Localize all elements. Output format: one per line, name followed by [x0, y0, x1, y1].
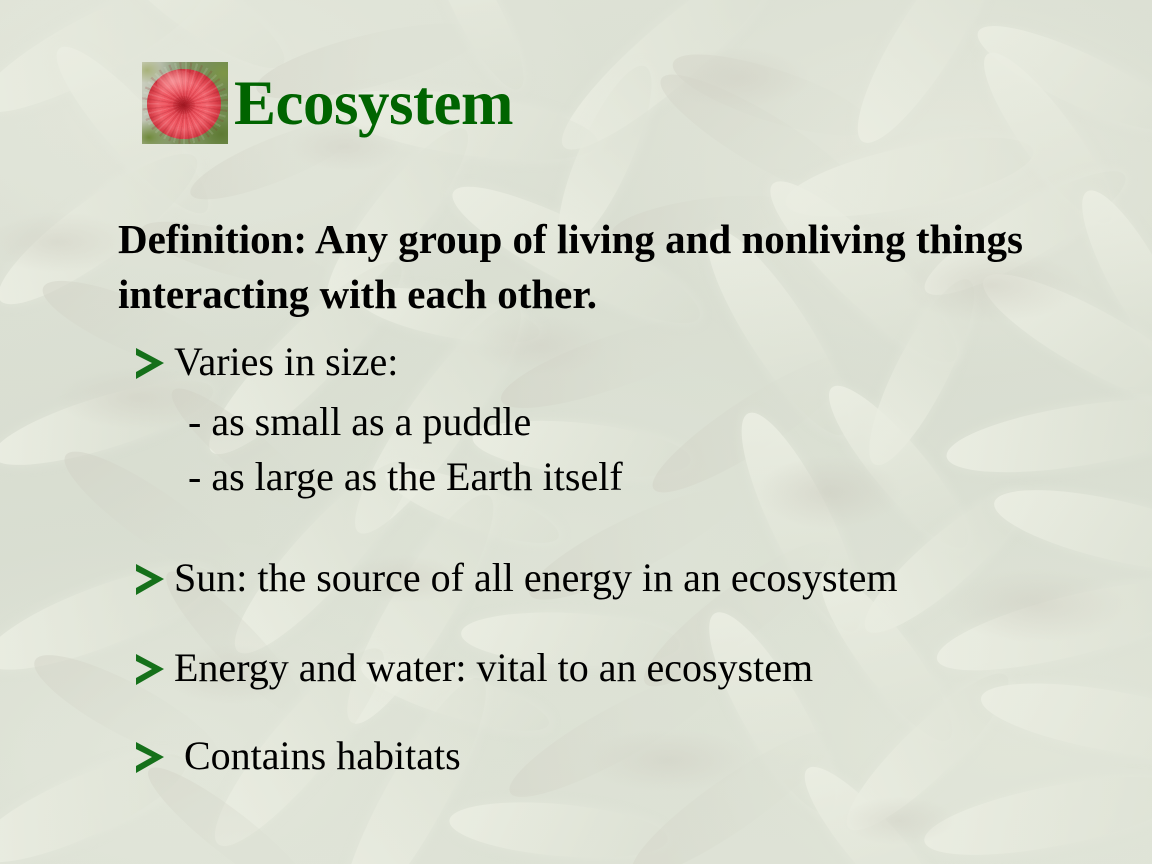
- chevron-right-icon: [130, 342, 174, 386]
- list-item: Sun: the source of all energy in an ecos…: [130, 556, 1110, 602]
- sub-list-item: - as small as a puddle: [188, 394, 1110, 449]
- page-title: Ecosystem: [234, 72, 513, 135]
- bullet-label: Varies in size:: [174, 340, 398, 385]
- bullet-label: Sun: the source of all energy in an ecos…: [174, 556, 898, 601]
- definition-text: Definition: Any group of living and nonl…: [118, 212, 1073, 321]
- bullet-list: Varies in size: - as small as a puddle -…: [130, 340, 1110, 780]
- slide-title-row: Ecosystem: [142, 62, 513, 144]
- chevron-right-icon: [130, 736, 174, 780]
- list-item: Contains habitats: [130, 734, 1110, 780]
- bullet-label: Contains habitats: [184, 734, 461, 779]
- bullet-row: Varies in size:: [130, 340, 1110, 386]
- list-item: Energy and water: vital to an ecosystem: [130, 646, 1110, 692]
- presentation-slide: Ecosystem Definition: Any group of livin…: [0, 0, 1152, 864]
- list-item: Varies in size: - as small as a puddle -…: [130, 340, 1110, 504]
- bullet-row: Contains habitats: [130, 734, 1110, 780]
- chevron-right-icon: [130, 558, 174, 602]
- carnation-flower-icon: [142, 62, 228, 144]
- sub-list-item: - as large as the Earth itself: [188, 449, 1110, 504]
- bullet-label: Energy and water: vital to an ecosystem: [174, 646, 813, 691]
- slide-content: Ecosystem Definition: Any group of livin…: [0, 0, 1152, 864]
- bullet-row: Energy and water: vital to an ecosystem: [130, 646, 1110, 692]
- bullet-row: Sun: the source of all energy in an ecos…: [130, 556, 1110, 602]
- bullet-sublist: - as small as a puddle - as large as the…: [188, 394, 1110, 504]
- chevron-right-icon: [130, 648, 174, 692]
